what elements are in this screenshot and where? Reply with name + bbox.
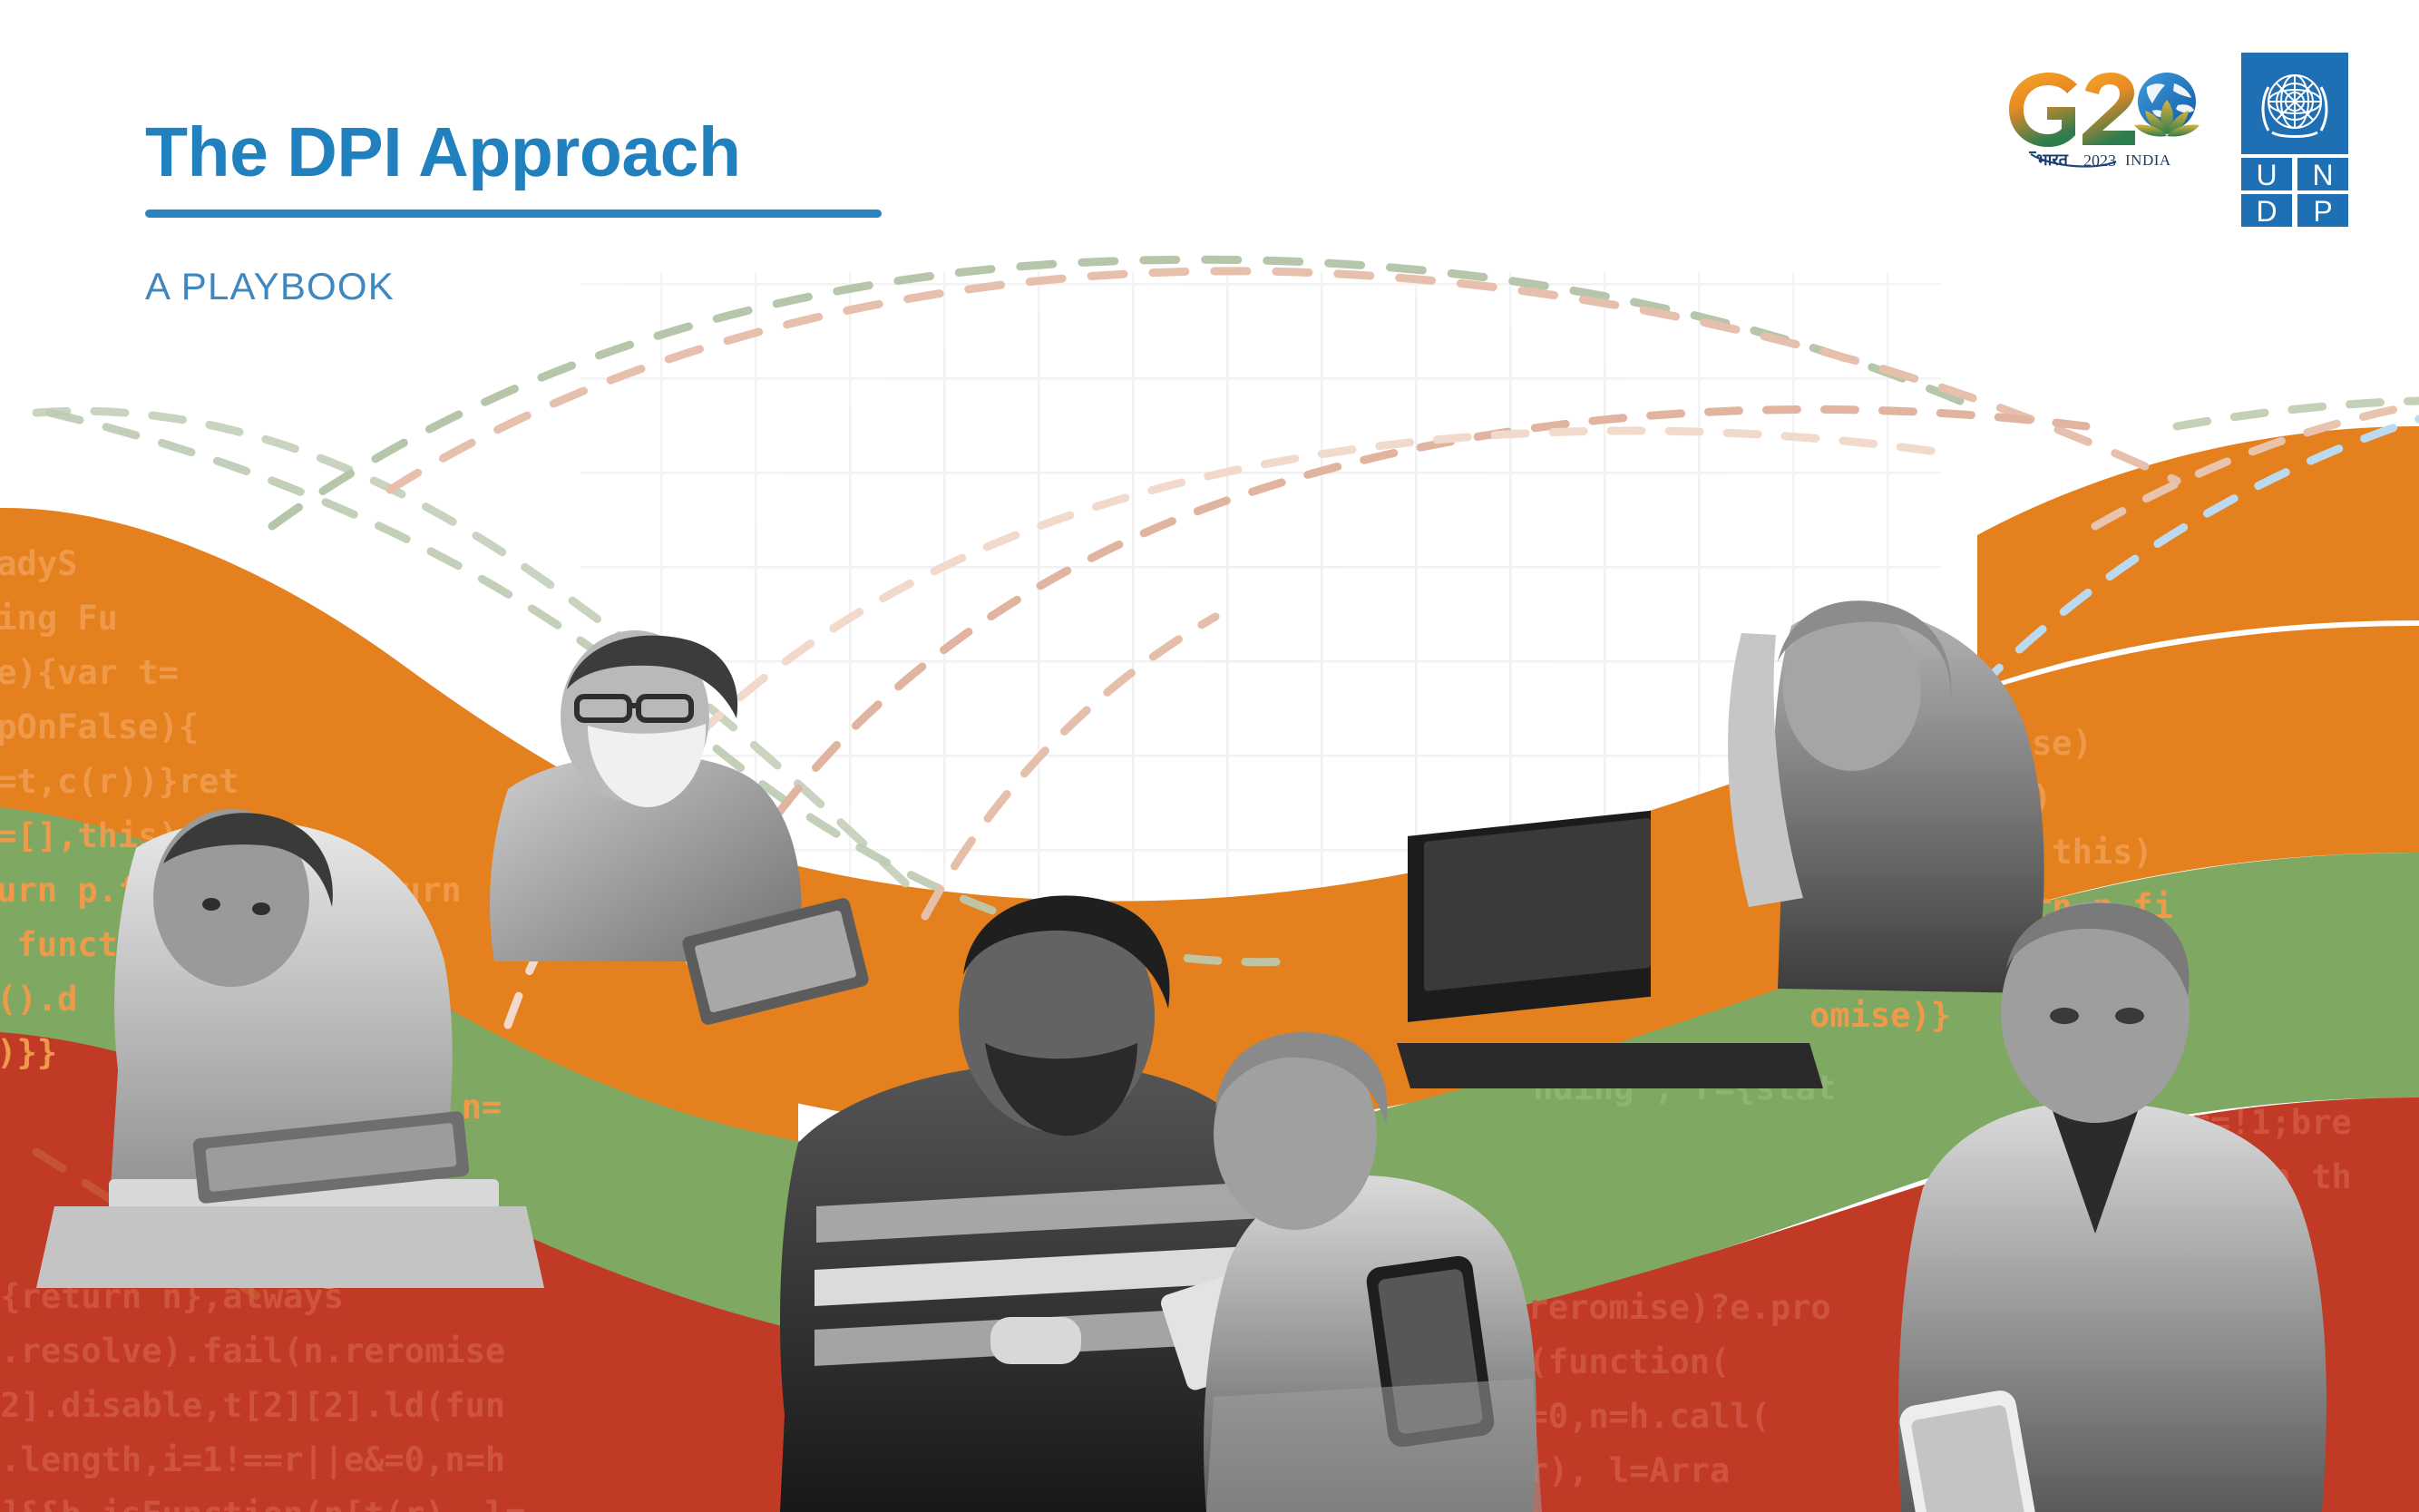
g20-country: INDIA [2125,151,2171,169]
title-block: The DPI Approach A PLAYBOOK [145,116,882,308]
g20-year: 2023 [2083,151,2116,170]
undp-letter-n: N [2312,159,2333,191]
title-underline-rule [145,210,882,218]
photo-masked-man-tablet [490,630,870,1026]
photo-woman-laptop-sari [1397,600,2044,1088]
photo-girl-with-tablet [36,809,544,1288]
g20-letter-2 [2082,73,2135,145]
undp-letter-u: U [2256,159,2277,191]
slide-canvas: eadyS ring Fu (e){var t= opOnFalse){ s=t… [0,0,2419,1512]
undp-letter-p: P [2313,195,2332,227]
g20-logo: भारत 2023 INDIA [1996,53,2205,193]
page-title: The DPI Approach [145,116,882,190]
page-subtitle: A PLAYBOOK [145,265,882,308]
undp-letter-d: D [2256,195,2277,227]
g20-letter-g [2009,73,2077,147]
photo-man-with-smartphone [1897,902,2326,1512]
g20-script-text: भारत [2036,151,2069,169]
logo-row: भारत 2023 INDIA [1996,53,2348,231]
photo-woman-with-phone [1204,1032,1542,1512]
undp-logo: U N D P [2241,53,2348,231]
